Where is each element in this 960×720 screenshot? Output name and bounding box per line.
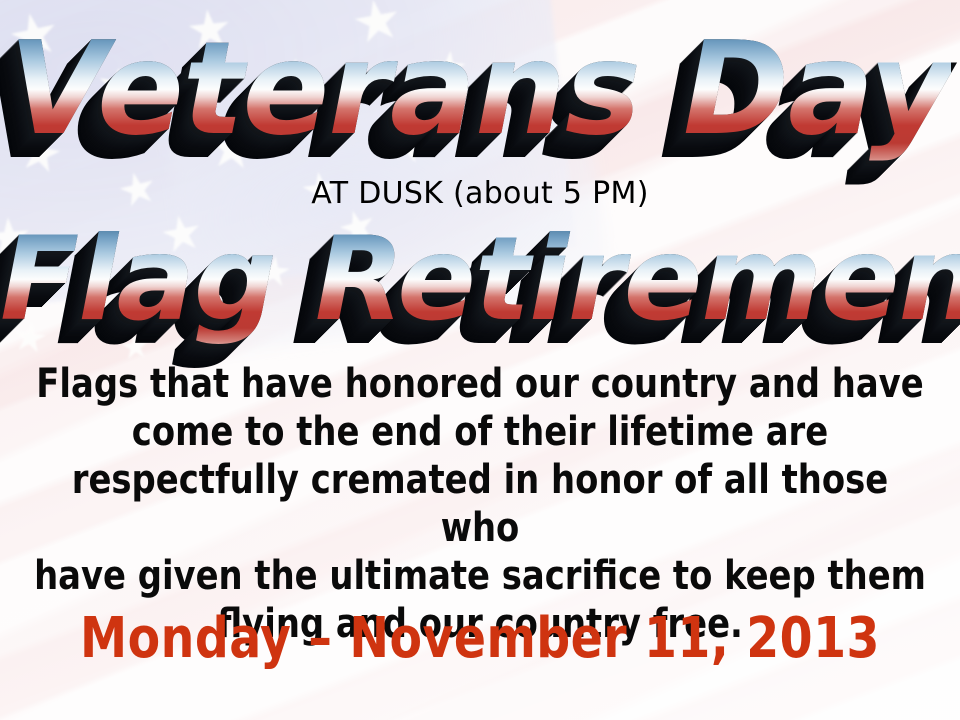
heading-flag-retirement-face: Flag Retirement (0, 212, 960, 347)
body-paragraph-line: come to the end of their lifetime are (29, 408, 931, 456)
heading-flag-retirement: Flag Retirement Flag Retirement (0, 222, 960, 338)
heading-veterans-day-face: Veterans Day (9, 15, 952, 164)
body-paragraph: Flags that have honored our country and … (29, 360, 931, 648)
heading-veterans-day: Veterans Day Veterans Day (0, 26, 960, 154)
subtitle-at-dusk: AT DUSK (about 5 PM) (0, 176, 960, 211)
event-date: Monday – November 11, 2013 (29, 608, 931, 670)
body-paragraph-line: respectfully cremated in honor of all th… (29, 456, 931, 552)
body-paragraph-line: have given the ultimate sacrifice to kee… (29, 552, 931, 600)
body-paragraph-line: Flags that have honored our country and … (29, 360, 931, 408)
veterans-day-flag-retirement-poster: ★★★★★★★★★★★★★★★★★★ Veterans Day Veterans… (0, 0, 960, 720)
